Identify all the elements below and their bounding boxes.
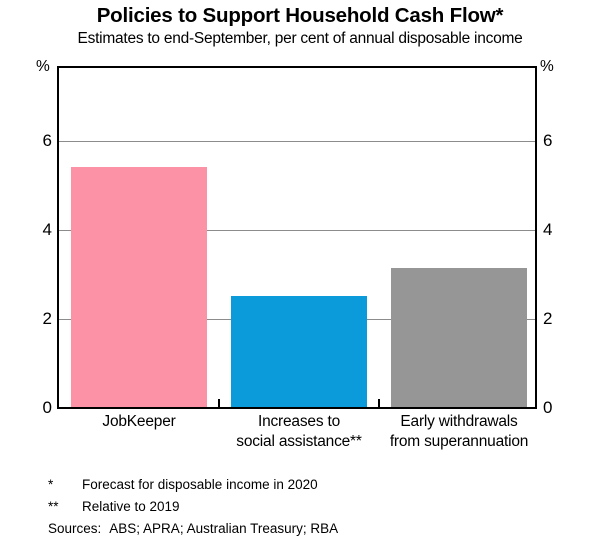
x-label-social-assistance-line-2: social assistance**	[229, 432, 369, 452]
x-tick-2	[378, 399, 380, 407]
footnote-1: * Forecast for disposable income in 2020	[48, 474, 593, 496]
footnote-1-text: Forecast for disposable income in 2020	[82, 474, 318, 496]
x-label-early-withdrawals: Early withdrawals from superannuation	[389, 412, 529, 452]
x-label-early-withdrawals-line-2: from superannuation	[389, 432, 529, 452]
footnote-2: ** Relative to 2019	[48, 496, 593, 518]
sources-label: Sources:	[48, 518, 109, 540]
sources-line: Sources: ABS; APRA; Australian Treasury;…	[48, 518, 593, 540]
footnote-2-mark: **	[48, 496, 82, 518]
y-tick-label-left-0: 0	[43, 399, 52, 416]
y-tick-label-left-2: 2	[43, 310, 52, 327]
x-label-jobkeeper: JobKeeper	[69, 412, 209, 432]
bar-early-withdrawals[interactable]	[391, 268, 527, 407]
footnote-2-text: Relative to 2019	[82, 496, 180, 518]
bar-social-assistance[interactable]	[231, 296, 367, 407]
sources-text: ABS; APRA; Australian Treasury; RBA	[109, 518, 338, 540]
x-label-social-assistance: Increases to social assistance**	[229, 412, 369, 452]
y-tick-label-right-2: 2	[543, 310, 552, 327]
x-label-early-withdrawals-line-1: Early withdrawals	[389, 412, 529, 432]
y-tick-label-right-4: 4	[543, 221, 552, 238]
y-axis-unit-right: %	[540, 59, 554, 75]
plot-area	[57, 66, 537, 409]
x-label-social-assistance-line-1: Increases to	[229, 412, 369, 432]
chart-figure: Policies to Support Household Cash Flow*…	[0, 0, 600, 534]
chart-subtitle: Estimates to end-September, per cent of …	[0, 30, 600, 48]
y-axis-unit-left: %	[36, 59, 50, 75]
gridline-6	[59, 141, 535, 142]
y-tick-label-right-6: 6	[543, 132, 552, 149]
x-tick-1	[218, 399, 220, 407]
y-tick-label-left-6: 6	[43, 132, 52, 149]
y-tick-label-right-0: 0	[543, 399, 552, 416]
chart-title: Policies to Support Household Cash Flow*	[0, 4, 600, 28]
y-tick-label-left-4: 4	[43, 221, 52, 238]
footnote-1-mark: *	[48, 474, 82, 496]
x-label-jobkeeper-line-1: JobKeeper	[69, 412, 209, 432]
bar-jobkeeper[interactable]	[71, 167, 207, 407]
footnotes-block: * Forecast for disposable income in 2020…	[48, 474, 593, 540]
